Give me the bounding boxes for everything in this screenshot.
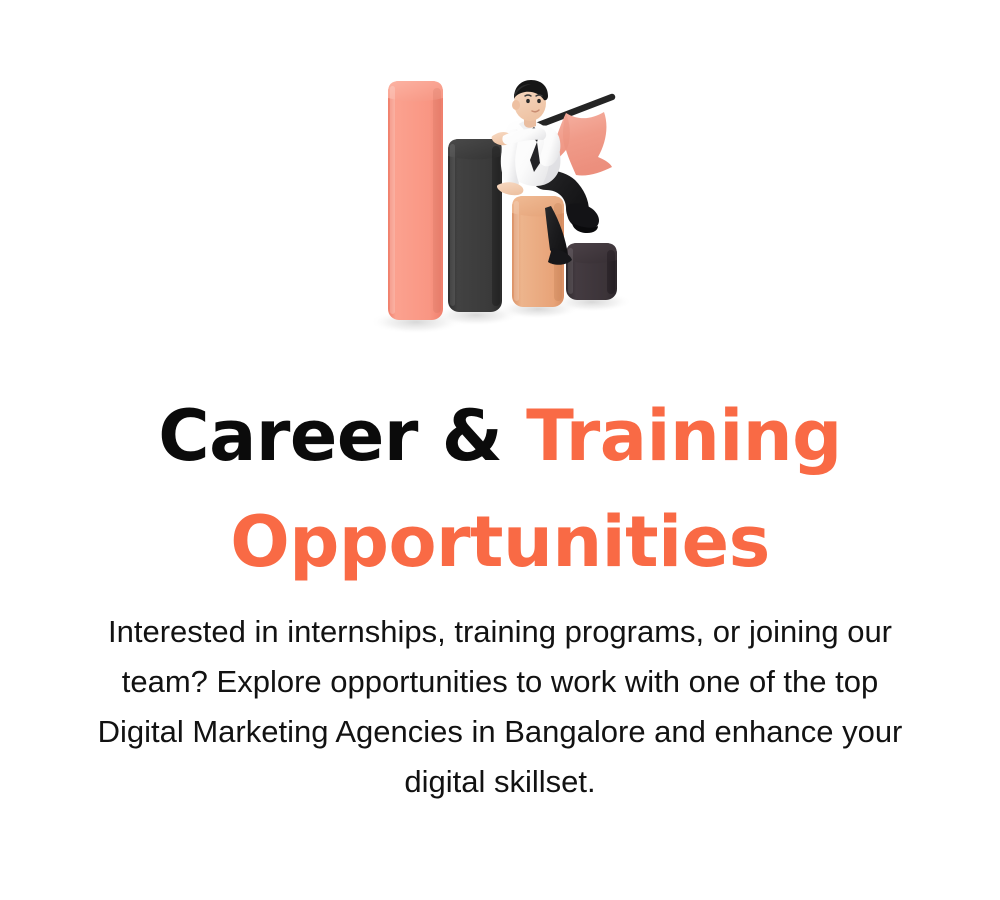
body-line-1: Interested in internships, training prog…: [25, 607, 975, 657]
chart-bar-4: [566, 243, 617, 300]
body-paragraph: Interested in internships, training prog…: [25, 607, 975, 807]
title-segment-dark: Career &: [158, 395, 526, 477]
title-line-2: Opportunities: [0, 489, 1000, 595]
chart-bar-1: [388, 81, 443, 320]
slide-root: Career & Training Opportunities Interest…: [0, 0, 1000, 900]
body-line-3: Digital Marketing Agencies in Bangalore …: [25, 707, 975, 757]
body-line-4: digital skillset.: [25, 757, 975, 807]
title-line-1: Career & Training: [0, 383, 1000, 489]
chart-bar-2: [448, 139, 502, 312]
page-title: Career & Training Opportunities: [0, 383, 1000, 595]
hero-illustration: [0, 0, 1000, 340]
title-segment-accent: Training: [526, 395, 842, 477]
businessman-figure: [492, 80, 612, 265]
body-line-2: team? Explore opportunities to work with…: [25, 657, 975, 707]
